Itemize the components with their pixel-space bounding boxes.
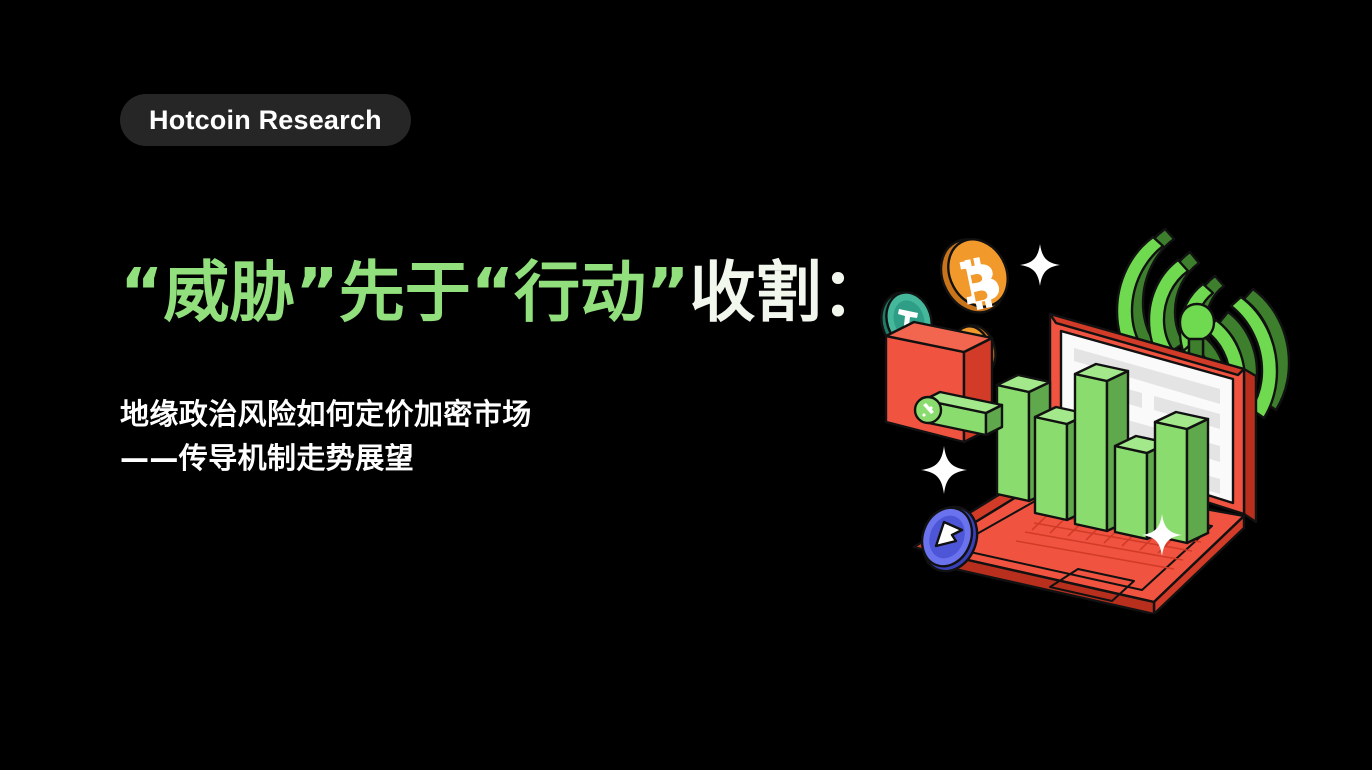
subtitle-line-2: ——传导机制走势展望 [120, 436, 820, 480]
sparkle-icon [1020, 244, 1060, 286]
subtitle: 地缘政治风险如何定价加密市场 ——传导机制走势展望 [120, 392, 820, 480]
headline-segment-accent: “威胁”先于“行动” [120, 254, 690, 331]
sparkle-icon [921, 446, 967, 494]
bitcoin-coin-icon [929, 228, 1019, 323]
headline-segment-plain: 收割： [690, 254, 888, 331]
brand-label: Hotcoin Research [149, 107, 382, 134]
headline: “威胁”先于“行动”收割： [120, 254, 880, 332]
banner-root: Hotcoin Research “威胁”先于“行动”收割： 地缘政治风险如何定… [0, 0, 1372, 770]
subtitle-line-1: 地缘政治风险如何定价加密市场 [120, 392, 820, 436]
illustration-svg: .ol { stroke:#111111; stroke-width:2.4; … [868, 214, 1294, 614]
brand-badge: Hotcoin Research [120, 94, 411, 146]
crypto-market-analytics-illustration: .ol { stroke:#111111; stroke-width:2.4; … [868, 214, 1294, 614]
